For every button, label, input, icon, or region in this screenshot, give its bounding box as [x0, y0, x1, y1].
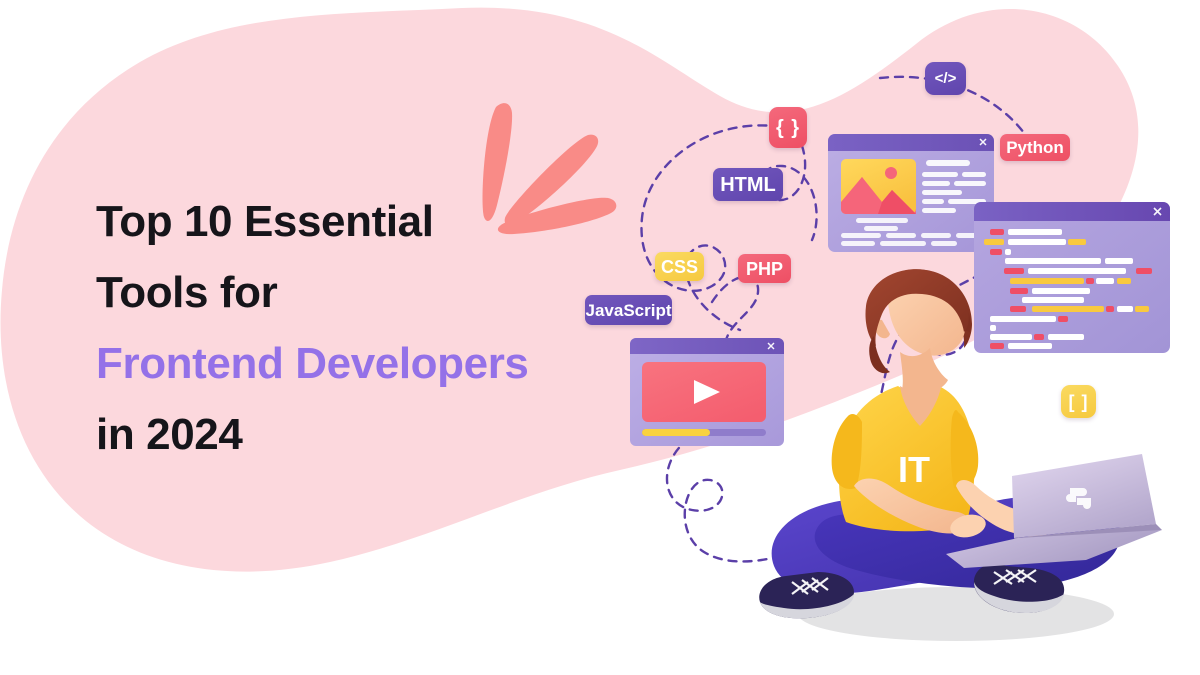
badge-python[interactable]: Python: [1000, 134, 1070, 161]
sleeve-right: [951, 410, 979, 489]
shirt-logo-text: IT: [898, 449, 930, 490]
poster-canvas: Top 10 Essential Tools for Frontend Deve…: [0, 0, 1200, 675]
headline-line-2: Tools for: [96, 257, 636, 328]
badge-html[interactable]: HTML: [713, 168, 783, 201]
hair-sideburn: [869, 336, 890, 373]
headline-line-3-accent: Frontend Developers: [96, 328, 636, 399]
badge-curly-braces[interactable]: { }: [769, 107, 807, 148]
progress-fill: [642, 429, 710, 436]
window-article-with-image[interactable]: [826, 132, 996, 254]
developer-illustration: IT: [600, 40, 1200, 660]
character-developer: IT: [750, 240, 1170, 660]
badge-code-tag[interactable]: </>: [925, 62, 966, 95]
badge-square-brackets[interactable]: [ ]: [1061, 385, 1096, 418]
badge-javascript[interactable]: JavaScript: [585, 295, 672, 325]
page-title: Top 10 Essential Tools for Frontend Deve…: [96, 186, 636, 470]
sleeve-left: [832, 414, 862, 489]
laptop-lid: [1012, 454, 1156, 538]
headline-line-4: in 2024: [96, 399, 636, 470]
headline-line-1: Top 10 Essential: [96, 186, 636, 257]
badge-css[interactable]: CSS: [655, 252, 704, 281]
badge-php[interactable]: PHP: [738, 254, 791, 283]
